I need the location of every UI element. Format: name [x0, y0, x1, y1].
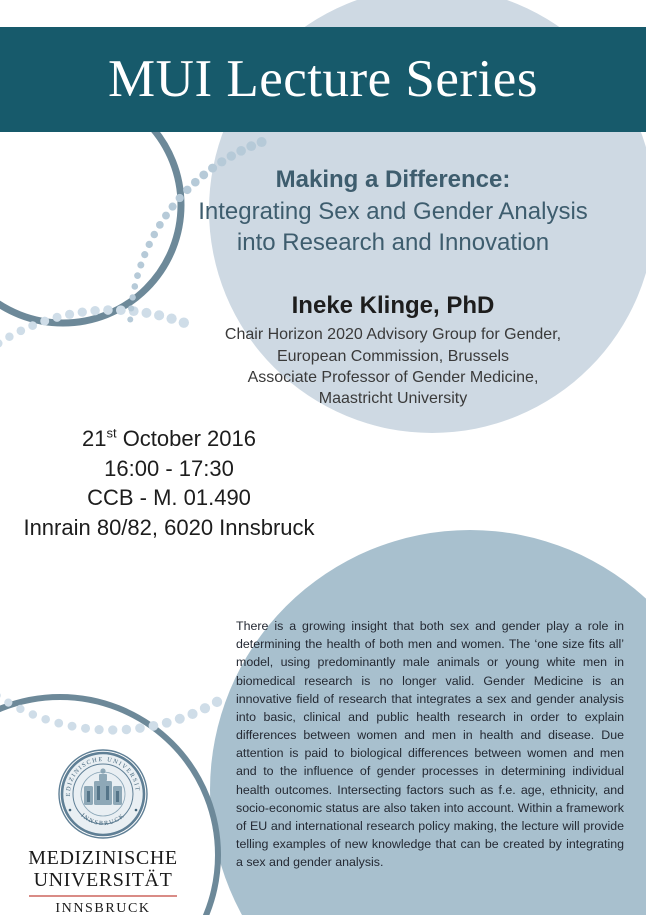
wordmark-line-1: MEDIZINISCHE — [8, 848, 198, 870]
university-wordmark: MEDIZINISCHE UNIVERSITÄT — [8, 848, 198, 891]
event-time: 16:00 - 17:30 — [0, 454, 338, 484]
lecture-subtitle-line-2: into Research and Innovation — [140, 227, 646, 259]
abstract-block: There is a growing insight that both sex… — [236, 617, 624, 871]
event-address: Innrain 80/82, 6020 Innsbruck — [0, 513, 338, 543]
event-date-ordinal: st — [106, 426, 116, 441]
lecture-title-block: Making a Difference: Integrating Sex and… — [140, 165, 646, 259]
wordmark-line-2: UNIVERSITÄT — [8, 870, 198, 892]
wordmark-city: INNSBRUCK — [8, 901, 198, 915]
speaker-block: Ineke Klinge, PhD Chair Horizon 2020 Adv… — [140, 290, 646, 409]
event-date-day: 21 — [82, 426, 106, 451]
poster-canvas: MUI Lecture Series Making a Difference: … — [0, 0, 646, 915]
event-room: CCB - M. 01.490 — [0, 483, 338, 513]
lecture-subtitle-line-1: Integrating Sex and Gender Analysis — [140, 196, 646, 228]
speaker-affiliation-line-1: Chair Horizon 2020 Advisory Group for Ge… — [140, 324, 646, 345]
speaker-affiliation-line-3: Associate Professor of Gender Medicine, — [140, 367, 646, 388]
university-seal-icon: MEDIZINISCHE UNIVERSITÄT INNSBRUCK — [57, 748, 149, 840]
speaker-name: Ineke Klinge, PhD — [140, 290, 646, 322]
event-date: 21st October 2016 — [0, 424, 338, 454]
speaker-affiliation-line-2: European Commission, Brussels — [140, 346, 646, 367]
header-band: MUI Lecture Series — [0, 27, 646, 132]
speaker-affiliation-line-4: Maastricht University — [140, 388, 646, 409]
wordmark-rule — [29, 895, 177, 897]
header-title: MUI Lecture Series — [108, 53, 538, 106]
event-date-rest: October 2016 — [117, 426, 256, 451]
abstract-text: There is a growing insight that both sex… — [236, 617, 624, 871]
event-details-block: 21st October 2016 16:00 - 17:30 CCB - M.… — [0, 424, 338, 543]
university-logo-block: MEDIZINISCHE UNIVERSITÄT INNSBRUCK MEDIZ… — [8, 748, 198, 915]
lecture-title-main: Making a Difference: — [140, 165, 646, 196]
